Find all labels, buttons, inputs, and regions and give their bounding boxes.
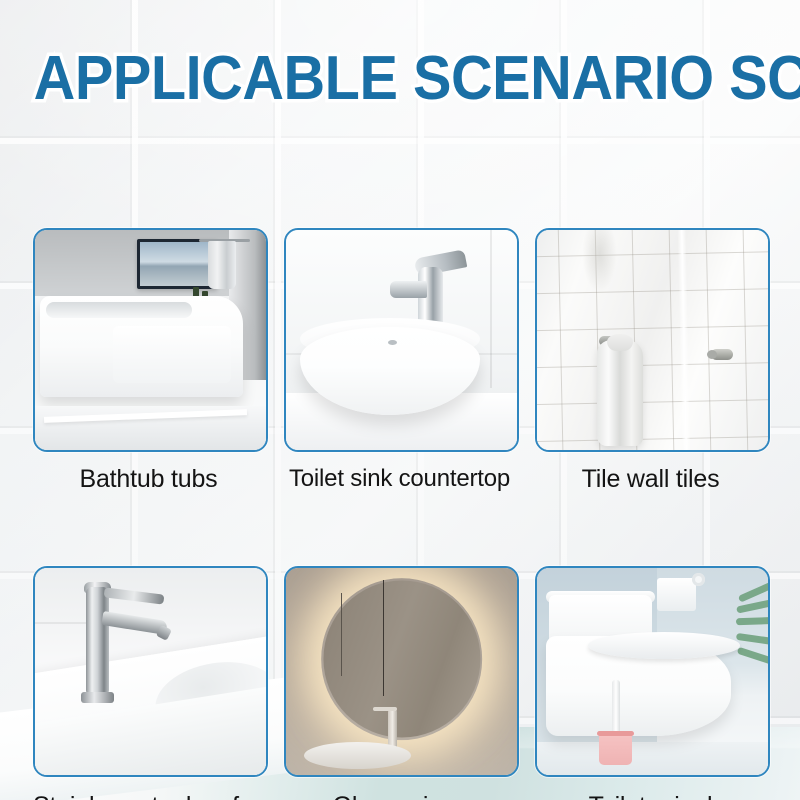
scenario-caption-bathtub: Bathtub tubs [33, 464, 264, 494]
scenario-photo-frame-stainless [33, 566, 268, 777]
photo-bathtub [35, 230, 266, 450]
scenario-card-glass-mirror[interactable]: Glass mirror [284, 566, 515, 800]
page-title: APPLICABLE SCENARIO SCOPE [34, 48, 800, 110]
scenario-photo-frame-mirror [284, 566, 519, 777]
toilet-paper-icon [657, 578, 696, 611]
scenario-card-sink-countertop[interactable]: Toilet sink countertop [284, 228, 515, 494]
photo-stainless-faucet [35, 568, 266, 775]
photo-backlit-mirror [286, 568, 517, 775]
photo-vessel-sink [286, 230, 517, 450]
scenario-grid: Bathtub tubs [33, 228, 767, 800]
scenario-photo-frame-toilet [535, 566, 770, 777]
photo-toilet [537, 568, 768, 775]
plant-icon [736, 576, 770, 704]
scenario-row-bottom: Stainless steel surface Glass mirror [33, 566, 767, 800]
window-icon [137, 239, 217, 289]
scenario-caption-stainless-steel: Stainless steel surface [33, 791, 264, 800]
scenario-card-bathtub[interactable]: Bathtub tubs [33, 228, 264, 494]
scenario-card-toilet[interactable]: Toilet urinal [535, 566, 766, 800]
scenario-caption-sink-countertop: Toilet sink countertop [284, 464, 515, 494]
scenario-caption-tile-wall: Tile wall tiles [535, 464, 766, 494]
scenario-row-top: Bathtub tubs [33, 228, 767, 494]
scenario-photo-frame-bathtub [33, 228, 268, 452]
scenario-photo-frame-sink [284, 228, 519, 452]
infographic-canvas: APPLICABLE SCENARIO SCOPE [0, 0, 800, 800]
hook-icon-right [711, 349, 733, 360]
scenario-card-stainless-steel[interactable]: Stainless steel surface [33, 566, 264, 800]
toilet-brush-icon [599, 734, 631, 765]
scenario-caption-glass-mirror: Glass mirror [284, 791, 515, 800]
round-mirror-shape [323, 581, 480, 738]
scenario-card-tile-wall[interactable]: Tile wall tiles [535, 228, 766, 494]
scenario-photo-frame-tile-wall [535, 228, 770, 452]
towel-shape [597, 340, 643, 446]
page-title-container: APPLICABLE SCENARIO SCOPE [0, 48, 800, 110]
photo-tile-wall [537, 230, 768, 450]
scenario-caption-toilet: Toilet urinal [535, 791, 766, 800]
